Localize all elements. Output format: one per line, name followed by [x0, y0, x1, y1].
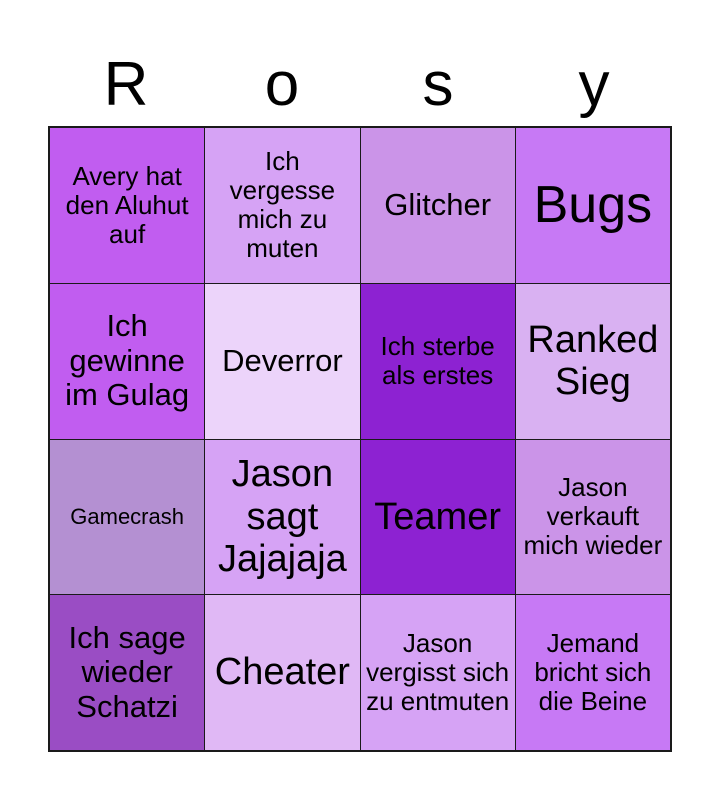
bingo-cell-label: Ich sage wieder Schatzi	[54, 621, 200, 725]
bingo-cell[interactable]: Avery hat den Aluhut auf	[50, 128, 204, 283]
bingo-cell[interactable]: Gamecrash	[50, 440, 204, 595]
bingo-cell-label: Glitcher	[365, 188, 511, 223]
bingo-cell[interactable]: Deverror	[205, 284, 359, 439]
bingo-cell[interactable]: Jason vergisst sich zu entmuten	[361, 595, 515, 750]
bingo-cell[interactable]: Bugs	[516, 128, 670, 283]
title-letter-0: R	[48, 44, 204, 126]
bingo-cell[interactable]: Ranked Sieg	[516, 284, 670, 439]
bingo-cell[interactable]: Jason verkauft mich wieder	[516, 440, 670, 595]
bingo-grid: Avery hat den Aluhut auf Ich vergesse mi…	[48, 126, 672, 752]
bingo-cell[interactable]: Jason sagt Jajajaja	[205, 440, 359, 595]
bingo-cell-label: Avery hat den Aluhut auf	[54, 162, 200, 249]
bingo-cell-label: Jason verkauft mich wieder	[520, 473, 666, 560]
bingo-cell[interactable]: Ich vergesse mich zu muten	[205, 128, 359, 283]
bingo-cell-label: Ich gewinne im Gulag	[54, 309, 200, 413]
bingo-cell-label: Cheater	[209, 651, 355, 694]
bingo-cell[interactable]: Ich sage wieder Schatzi	[50, 595, 204, 750]
bingo-card: R o s y Avery hat den Aluhut auf Ich ver…	[0, 0, 723, 800]
bingo-cell-label: Bugs	[520, 176, 666, 234]
bingo-title: R o s y	[48, 44, 672, 126]
bingo-cell-label: Ich sterbe als erstes	[365, 332, 511, 390]
bingo-cell-label: Deverror	[209, 344, 355, 379]
bingo-cell-label: Teamer	[365, 496, 511, 539]
bingo-cell-label: Jason vergisst sich zu entmuten	[365, 629, 511, 716]
bingo-cell[interactable]: Ich sterbe als erstes	[361, 284, 515, 439]
bingo-cell-label: Gamecrash	[54, 505, 200, 530]
bingo-cell-label: Ich vergesse mich zu muten	[209, 147, 355, 263]
bingo-cell-label: Ranked Sieg	[520, 319, 666, 404]
title-letter-3: y	[516, 44, 672, 126]
bingo-cell[interactable]: Ich gewinne im Gulag	[50, 284, 204, 439]
title-letter-1: o	[204, 44, 360, 126]
bingo-cell-label: Jemand bricht sich die Beine	[520, 629, 666, 716]
bingo-cell[interactable]: Cheater	[205, 595, 359, 750]
title-letter-2: s	[360, 44, 516, 126]
bingo-cell-label: Jason sagt Jajajaja	[209, 453, 355, 581]
bingo-cell[interactable]: Teamer	[361, 440, 515, 595]
bingo-cell[interactable]: Glitcher	[361, 128, 515, 283]
bingo-cell[interactable]: Jemand bricht sich die Beine	[516, 595, 670, 750]
